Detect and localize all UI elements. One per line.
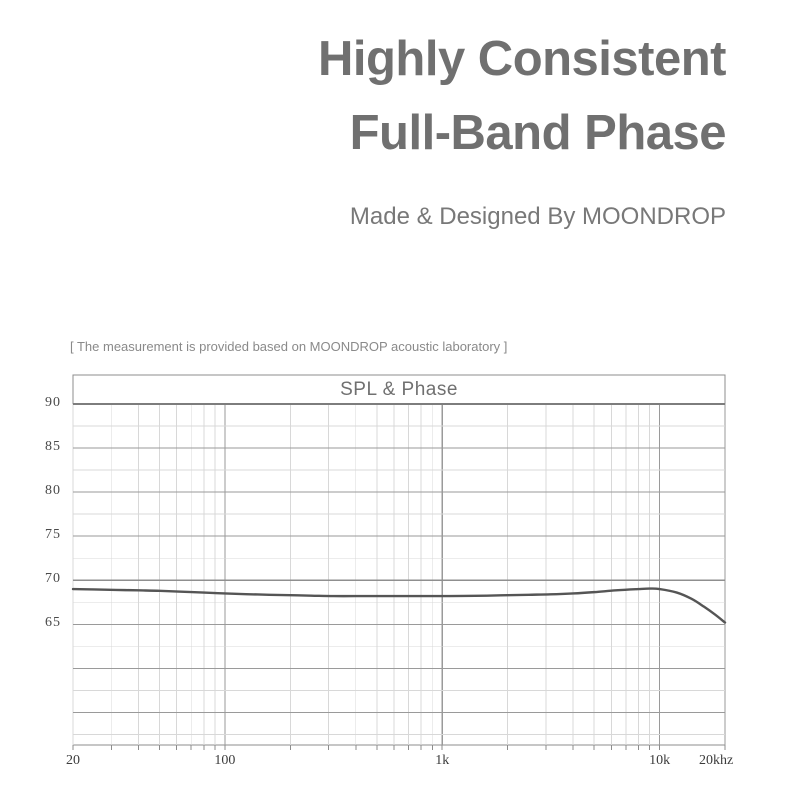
y-tick-70: 70 xyxy=(21,571,61,587)
chart-canvas xyxy=(0,0,800,800)
y-tick-80: 80 xyxy=(21,483,61,499)
x-tick-100: 100 xyxy=(214,753,235,769)
y-tick-75: 75 xyxy=(21,527,61,543)
x-tick-20khz: 20khz xyxy=(699,753,733,769)
y-tick-85: 85 xyxy=(21,439,61,455)
x-tick-10k: 10k xyxy=(649,753,670,769)
plot-frame xyxy=(73,375,725,745)
series-line-spl xyxy=(73,589,725,623)
y-tick-65: 65 xyxy=(21,615,61,631)
y-tick-90: 90 xyxy=(21,395,61,411)
x-tick-20: 20 xyxy=(66,753,80,769)
x-tick-1k: 1k xyxy=(435,753,449,769)
spl-phase-chart: SPL & Phase 908580757065 201001k10k20khz xyxy=(0,0,800,800)
